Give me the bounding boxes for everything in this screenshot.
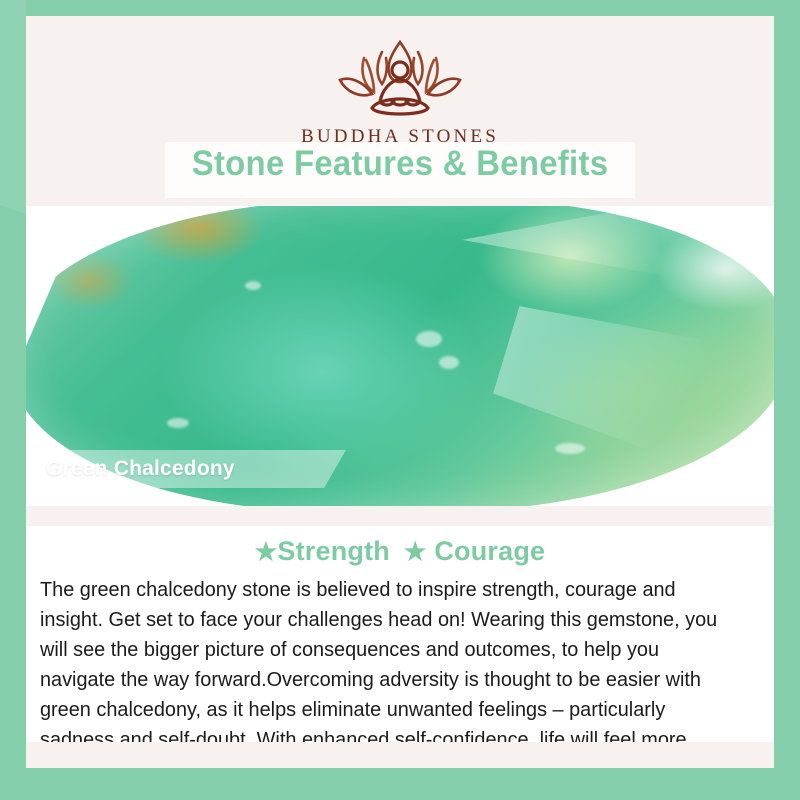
- stone-name-ribbon: Green Chalcedony: [26, 450, 346, 488]
- stone-name-label: Green Chalcedony: [46, 457, 235, 481]
- stone-facet: [462, 206, 772, 318]
- benefit-label-courage: Courage: [434, 536, 545, 566]
- poster-card: BUDDHA STONES Stone Features & Benefits …: [26, 16, 774, 768]
- decorative-band-top: [218, 0, 800, 16]
- decorative-band-bottom: [0, 768, 800, 800]
- decorative-band-right: [774, 0, 800, 566]
- footer-strip: [26, 742, 774, 768]
- poster-root: BUDDHA STONES Stone Features & Benefits …: [0, 0, 800, 800]
- page-title: Stone Features & Benefits: [48, 144, 751, 184]
- stone-inclusion: [555, 443, 585, 454]
- stone-inclusion: [245, 281, 261, 290]
- description-paragraph: The green chalcedony stone is believed t…: [40, 575, 738, 768]
- brand-logo: BUDDHA STONES: [26, 32, 774, 148]
- header-section: BUDDHA STONES Stone Features & Benefits: [26, 16, 774, 206]
- star-icon: ★: [404, 538, 427, 566]
- section-divider: [26, 506, 774, 526]
- content-section: ★Strength★ Courage The green chalcedony …: [26, 526, 774, 768]
- benefits-heading: ★Strength★ Courage: [26, 526, 774, 567]
- hero-image: Green Chalcedony: [26, 206, 774, 506]
- stone-inclusion: [167, 418, 189, 428]
- stone-facet: [493, 306, 757, 462]
- stone-inclusion: [439, 356, 459, 369]
- benefit-label-strength: Strength: [277, 536, 390, 566]
- stone-inclusion: [416, 331, 442, 347]
- star-icon: ★: [255, 538, 278, 566]
- lotus-meditation-icon: [324, 32, 476, 124]
